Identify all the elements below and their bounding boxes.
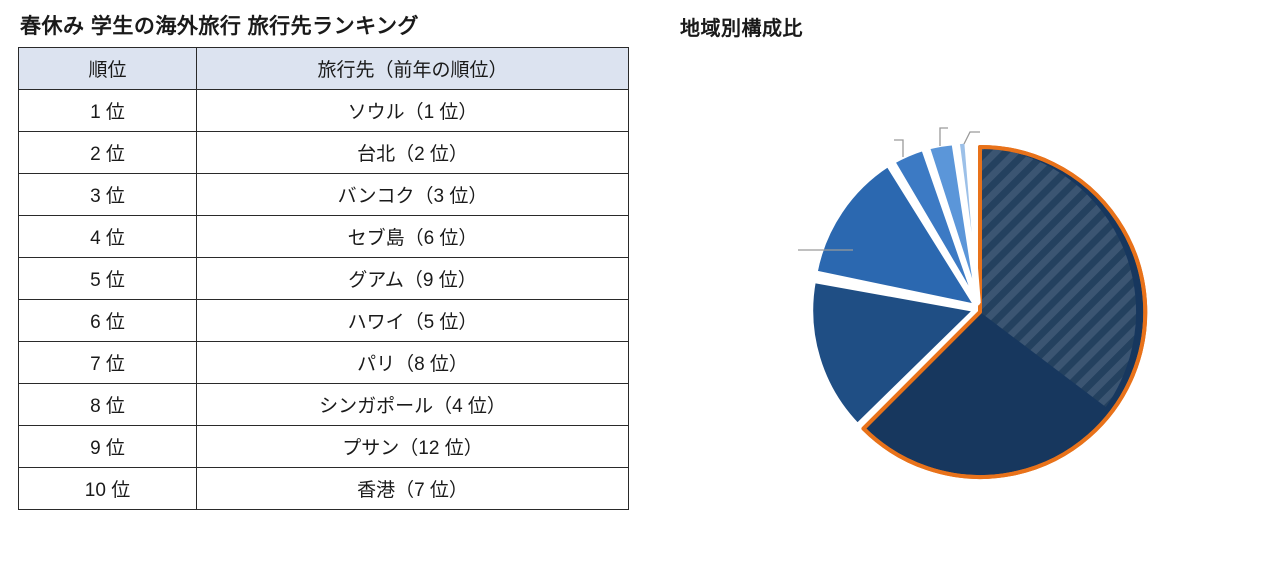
cell-destination: プサン（12 位） — [197, 426, 629, 468]
cell-rank: 4 位 — [19, 216, 197, 258]
table-row: 9 位 プサン（12 位） — [19, 426, 629, 468]
cell-rank: 3 位 — [19, 174, 197, 216]
leader-line-america — [894, 140, 903, 157]
cell-rank: 2 位 — [19, 132, 197, 174]
cell-destination: シンガポール（4 位） — [197, 384, 629, 426]
table-row: 7 位 パリ（8 位） — [19, 342, 629, 384]
column-header-destination: 旅行先（前年の順位） — [197, 48, 629, 90]
table-row: 6 位 ハワイ（5 位） — [19, 300, 629, 342]
cell-rank: 9 位 — [19, 426, 197, 468]
column-header-rank: 順位 — [19, 48, 197, 90]
table-header-row: 順位 旅行先（前年の順位） — [19, 48, 629, 90]
cell-destination: パリ（8 位） — [197, 342, 629, 384]
table-row: 2 位 台北（2 位） — [19, 132, 629, 174]
cell-destination: セブ島（6 位） — [197, 216, 629, 258]
table-row: 10 位 香港（7 位） — [19, 468, 629, 510]
cell-rank: 6 位 — [19, 300, 197, 342]
slide-canvas: 春休み 学生の海外旅行 旅行先ランキング 順位 旅行先（前年の順位） 1 位 ソ… — [0, 0, 1280, 564]
ranking-table-panel: 春休み 学生の海外旅行 旅行先ランキング 順位 旅行先（前年の順位） 1 位 ソ… — [18, 10, 630, 510]
cell-destination: ハワイ（5 位） — [197, 300, 629, 342]
cell-rank: 10 位 — [19, 468, 197, 510]
cell-rank: 7 位 — [19, 342, 197, 384]
cell-rank: 5 位 — [19, 258, 197, 300]
cell-destination: ソウル（1 位） — [197, 90, 629, 132]
pie-chart-panel: 地域別構成比 — [648, 0, 1280, 564]
table-row: 5 位 グアム（9 位） — [19, 258, 629, 300]
cell-destination: 香港（7 位） — [197, 468, 629, 510]
cell-rank: 8 位 — [19, 384, 197, 426]
cell-rank: 1 位 — [19, 90, 197, 132]
pie-chart: 中近東 2.7% アフリカ 0.1% 北中南米 3.2% ミクロ・ハワイ・オセア… — [648, 0, 1280, 564]
cell-destination: 台北（2 位） — [197, 132, 629, 174]
pie-chart-svg — [648, 0, 1280, 564]
ranking-table: 順位 旅行先（前年の順位） 1 位 ソウル（1 位） 2 位 台北（2 位） 3… — [18, 47, 629, 510]
table-row: 3 位 バンコク（3 位） — [19, 174, 629, 216]
cell-destination: グアム（9 位） — [197, 258, 629, 300]
table-row: 1 位 ソウル（1 位） — [19, 90, 629, 132]
table-row: 4 位 セブ島（6 位） — [19, 216, 629, 258]
page-title: 春休み 学生の海外旅行 旅行先ランキング — [20, 10, 630, 40]
table-row: 8 位 シンガポール（4 位） — [19, 384, 629, 426]
cell-destination: バンコク（3 位） — [197, 174, 629, 216]
